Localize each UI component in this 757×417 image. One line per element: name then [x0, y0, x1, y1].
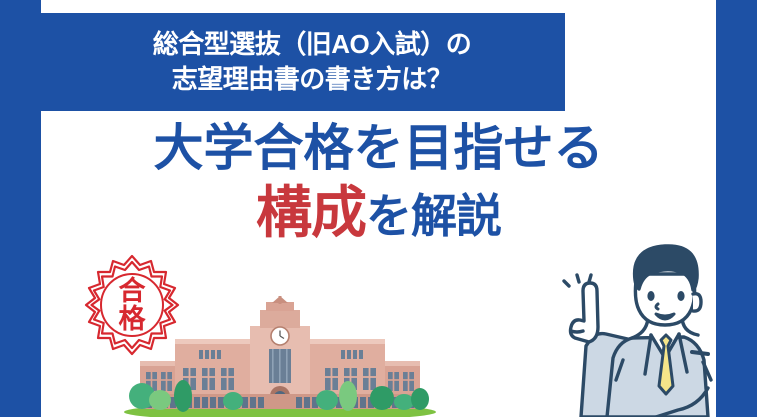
headline-keyword: 構成: [256, 181, 366, 244]
headline-suffix: を解説: [366, 190, 501, 242]
university-illustration: [120, 296, 440, 417]
headline: 大学合格を目指せる 構成を解説: [41, 120, 716, 245]
pointing-man-illustration: [553, 228, 748, 417]
pointing-man-icon: [553, 228, 748, 417]
university-building-icon: [120, 296, 440, 417]
headline-line-1: 大学合格を目指せる: [41, 120, 716, 176]
header-band: 総合型選抜（旧AO入試）の 志望理由書の書き方は？: [41, 13, 565, 111]
header-line-2: 志望理由書の書き方は？: [172, 62, 453, 97]
left-blue-bar: [0, 0, 41, 417]
banner-root: 総合型選抜（旧AO入試）の 志望理由書の書き方は？ 大学合格を目指せる 構成を解…: [0, 0, 757, 417]
header-line-1: 総合型選抜（旧AO入試）の: [153, 27, 472, 62]
